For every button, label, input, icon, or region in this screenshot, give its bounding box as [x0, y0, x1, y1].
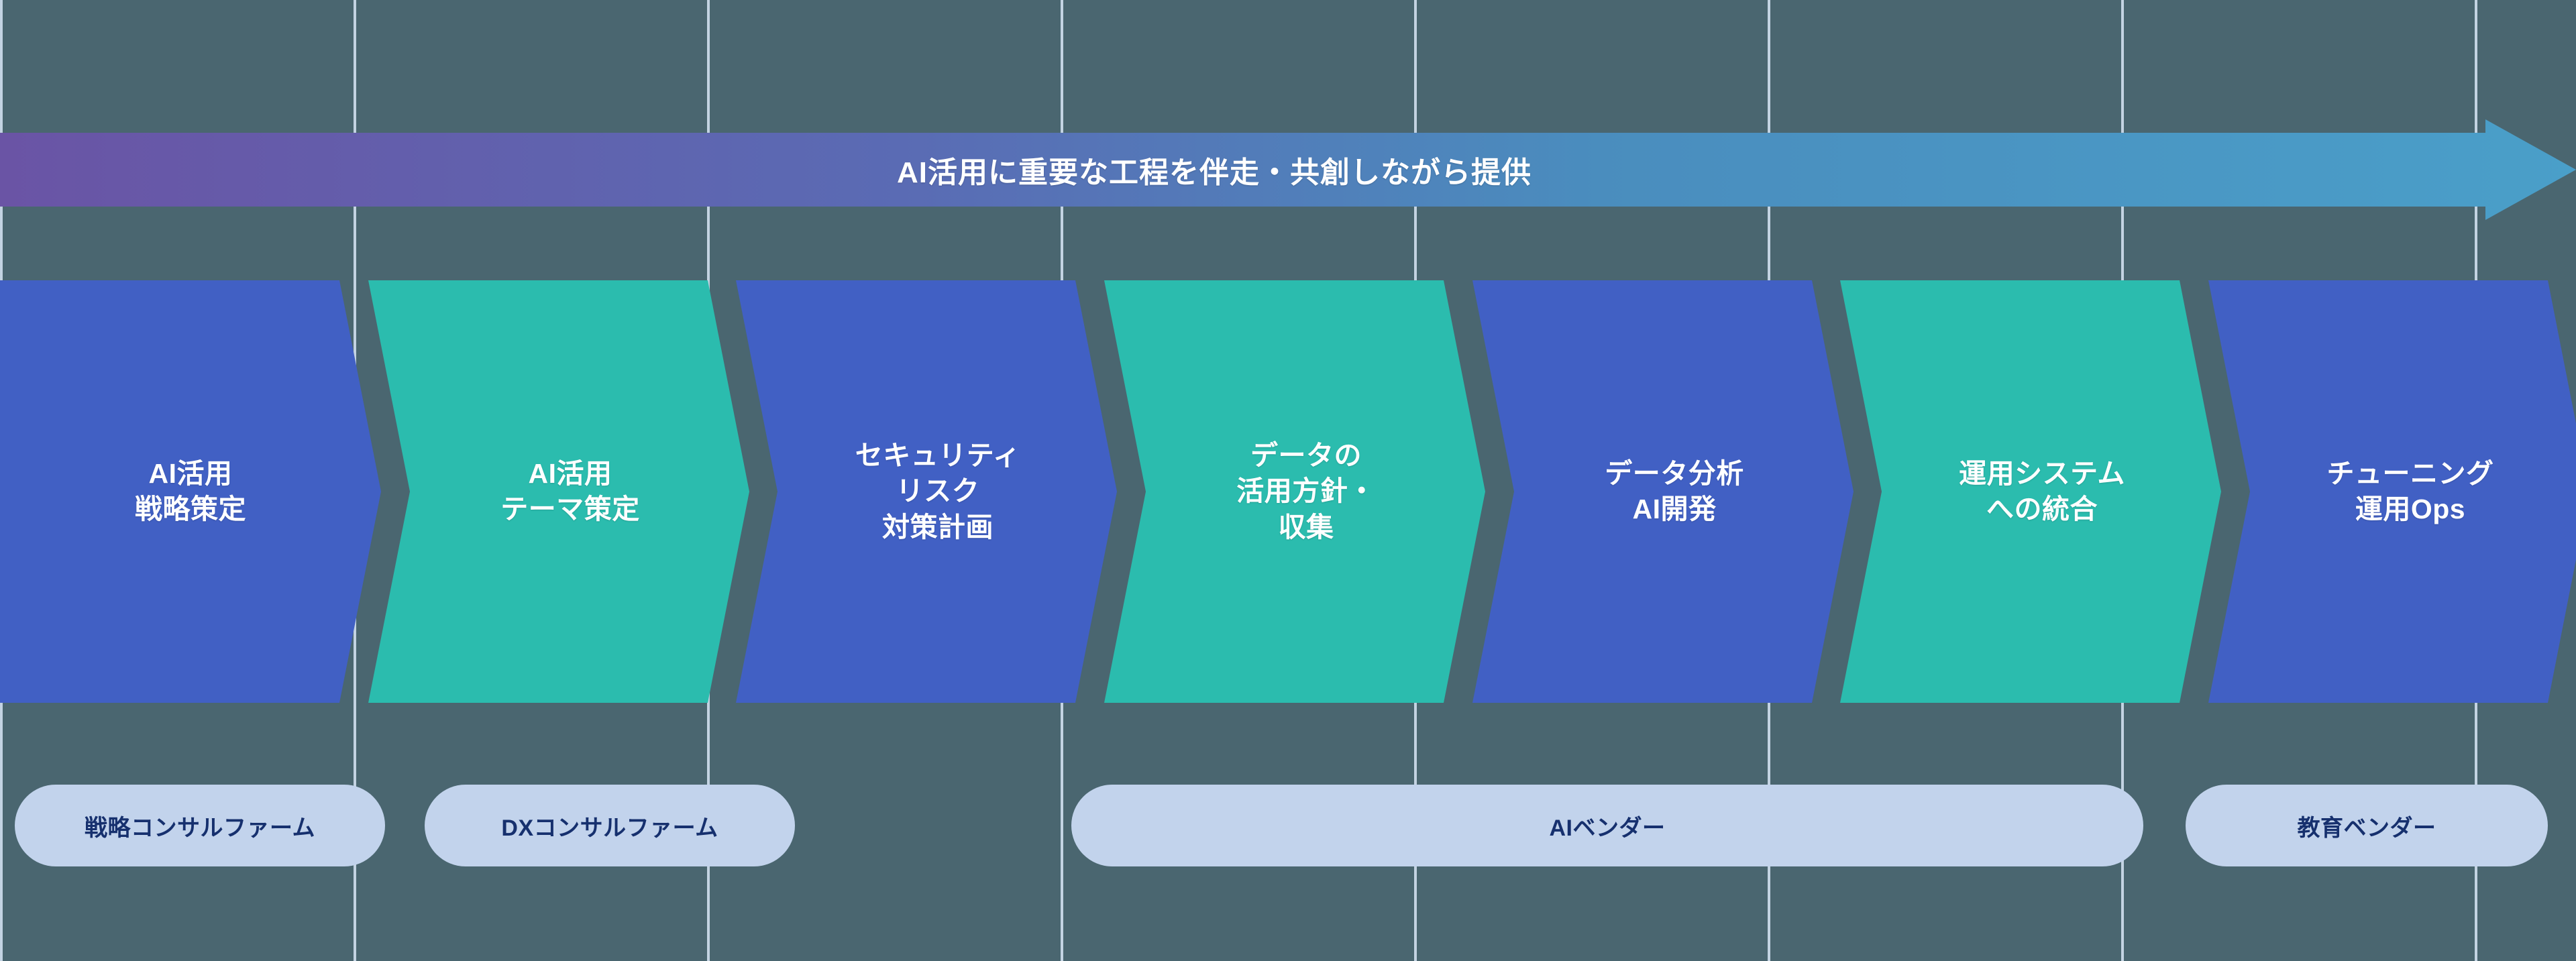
vendor-pill-label: 戦略コンサルファーム [85, 809, 315, 842]
process-step-5[interactable]: データ分析 AI開発 [1472, 280, 1854, 703]
process-step-label: セキュリティ リスク 対策計画 [833, 438, 1021, 545]
process-step-label: AI活用 戦略策定 [135, 456, 246, 528]
process-step-4[interactable]: データの 活用方針・ 収集 [1104, 280, 1485, 703]
banner-title: AI活用に重要な工程を伴走・共創しながら提供 [0, 119, 2428, 220]
process-step-label: AI活用 テーマ策定 [478, 456, 640, 528]
vendor-pill[interactable]: DXコンサルファーム [425, 785, 795, 866]
vendor-pill[interactable]: 教育ベンダー [2186, 785, 2548, 866]
process-step-label: 運用システム への統合 [1936, 456, 2125, 528]
vendor-pill-label: DXコンサルファーム [501, 809, 718, 842]
process-step-6[interactable]: 運用システム への統合 [1840, 280, 2221, 703]
headline-arrow-banner: AI活用に重要な工程を伴走・共創しながら提供 [0, 119, 2576, 220]
process-step-2[interactable]: AI活用 テーマ策定 [368, 280, 749, 703]
process-step-label: データ分析 AI開発 [1582, 456, 1744, 528]
vendor-pill[interactable]: 戦略コンサルファーム [15, 785, 385, 866]
vendor-pill-row: 戦略コンサルファームDXコンサルファームAIベンダー教育ベンダー [0, 785, 2576, 866]
process-step-1[interactable]: AI活用 戦略策定 [0, 280, 381, 703]
vendor-pill-label: AIベンダー [1550, 809, 1666, 842]
process-step-7[interactable]: チューニング 運用Ops [2208, 280, 2576, 703]
vendor-pill-label: 教育ベンダー [2298, 809, 2436, 842]
process-step-label: データの 活用方針・ 収集 [1214, 438, 1376, 545]
vendor-pill[interactable]: AIベンダー [1071, 785, 2143, 866]
process-step-label: チューニング 運用Ops [2304, 456, 2494, 528]
process-flow-diagram: AI活用に重要な工程を伴走・共創しながら提供 AI活用 戦略策定AI活用 テーマ… [0, 0, 2576, 961]
process-step-3[interactable]: セキュリティ リスク 対策計画 [736, 280, 1117, 703]
process-step-band: AI活用 戦略策定AI活用 テーマ策定セキュリティ リスク 対策計画データの 活… [0, 280, 2576, 703]
